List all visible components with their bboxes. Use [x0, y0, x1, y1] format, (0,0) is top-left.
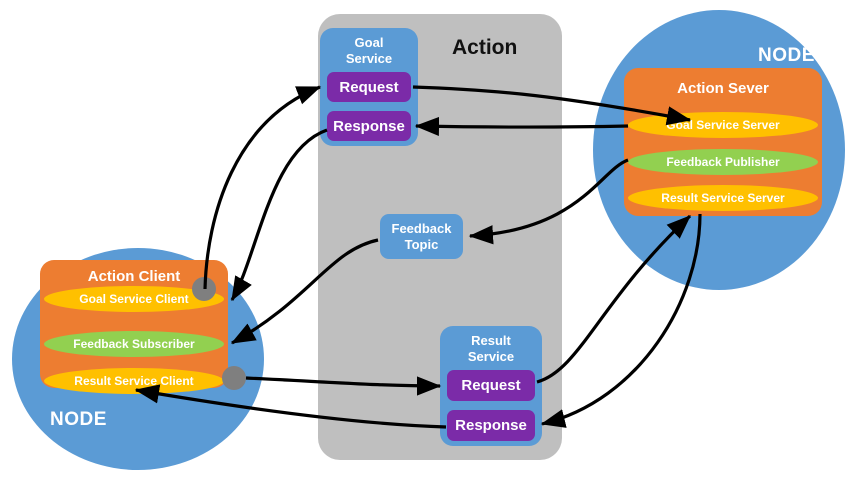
- result-response-box[interactable]: Response: [447, 410, 535, 441]
- goal-service-title-line1: Goal: [320, 35, 418, 51]
- feedback-topic-line1: Feedback: [392, 221, 452, 236]
- result-request-box[interactable]: Request: [447, 370, 535, 401]
- result-service-title-line2: Service: [440, 349, 542, 365]
- endpoint-label: Feedback Publisher: [666, 155, 779, 169]
- goal-request-box[interactable]: Request: [327, 72, 411, 102]
- result-response-label: Response: [455, 417, 527, 434]
- endpoint-goal-service-server[interactable]: Goal Service Server: [628, 112, 818, 138]
- goal-service-title-line2: Service: [320, 51, 418, 67]
- connector-dot-goal-client: [192, 277, 216, 301]
- endpoint-result-service-server[interactable]: Result Service Server: [628, 185, 818, 211]
- action-panel-title: Action: [452, 36, 517, 60]
- diagram-canvas: Action NODE Action Client Goal Service C…: [0, 0, 854, 480]
- endpoint-label: Goal Service Client: [79, 292, 188, 306]
- feedback-topic-line2: Topic: [405, 237, 439, 252]
- connector-dot-result-client: [222, 366, 246, 390]
- action-server-title: Action Sever: [624, 80, 822, 97]
- result-service-title: Result Service: [440, 333, 542, 365]
- node-server-label: NODE: [758, 45, 815, 67]
- feedback-topic-box[interactable]: Feedback Topic: [380, 214, 463, 259]
- feedback-topic-label: Feedback Topic: [392, 221, 452, 253]
- endpoint-label: Result Service Client: [74, 374, 193, 388]
- arrow-goal-client-to-request: [205, 87, 320, 289]
- goal-request-label: Request: [339, 79, 398, 96]
- endpoint-label: Goal Service Server: [666, 118, 779, 132]
- goal-response-label: Response: [333, 118, 405, 135]
- endpoint-feedback-publisher[interactable]: Feedback Publisher: [628, 149, 818, 175]
- endpoint-feedback-subscriber[interactable]: Feedback Subscriber: [44, 331, 224, 357]
- endpoint-label: Feedback Subscriber: [73, 337, 194, 351]
- arrow-goal-response-to-client: [232, 130, 327, 300]
- endpoint-result-service-client[interactable]: Result Service Client: [44, 368, 224, 394]
- node-client-label: NODE: [50, 409, 107, 431]
- goal-response-box[interactable]: Response: [327, 111, 411, 141]
- result-request-label: Request: [461, 377, 520, 394]
- endpoint-label: Result Service Server: [661, 191, 784, 205]
- goal-service-title: Goal Service: [320, 35, 418, 67]
- result-service-title-line1: Result: [440, 333, 542, 349]
